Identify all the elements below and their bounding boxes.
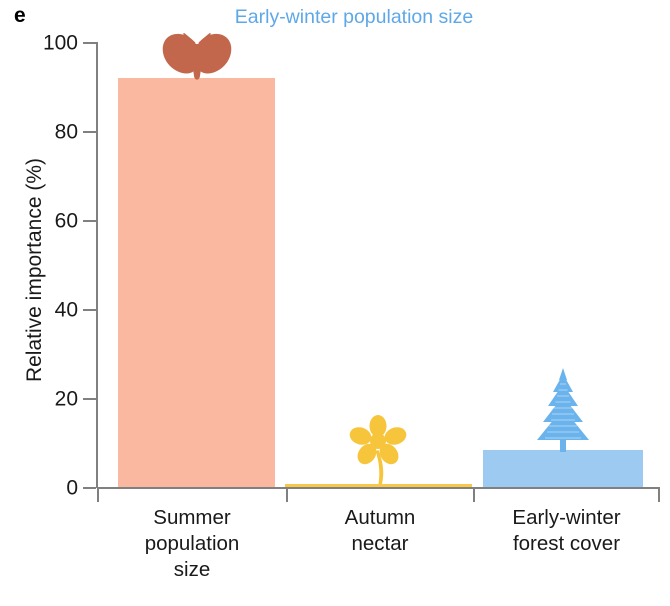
y-tick-60 xyxy=(83,220,96,222)
x-category-line: size xyxy=(97,557,287,583)
x-category-line: Early-winter xyxy=(473,505,660,531)
y-tick-40 xyxy=(83,309,96,311)
x-category-line: population xyxy=(97,531,287,557)
bar-summer-population-size[interactable] xyxy=(118,78,275,487)
y-tick-20 xyxy=(83,398,96,400)
figure-panel-e: e Early-winter population size 100 80 60… xyxy=(0,0,670,606)
chart-title: Early-winter population size xyxy=(0,6,670,29)
x-tick-sep-2 xyxy=(473,489,475,502)
bar-early-winter-forest-cover[interactable] xyxy=(483,450,643,487)
x-tick-right-end xyxy=(658,489,660,502)
y-tick-0 xyxy=(83,487,96,489)
x-category-label-autumn-nectar: Autumn nectar xyxy=(287,505,473,557)
y-tick-80 xyxy=(83,131,96,133)
x-category-line: forest cover xyxy=(473,531,660,557)
butterfly-icon xyxy=(161,32,233,84)
pine-tree-icon xyxy=(532,368,594,452)
x-category-label-early-winter-forest-cover: Early-winter forest cover xyxy=(473,505,660,557)
x-category-label-summer-population-size: Summer population size xyxy=(97,505,287,584)
x-tick-sep-1 xyxy=(286,489,288,502)
x-category-line: Summer xyxy=(97,505,287,531)
x-axis-line xyxy=(97,487,660,489)
y-tick-100 xyxy=(83,42,96,44)
x-category-line: nectar xyxy=(287,531,473,557)
flower-icon xyxy=(349,414,407,486)
y-axis-title: Relative importance (%) xyxy=(23,20,47,520)
x-category-line: Autumn xyxy=(287,505,473,531)
x-tick-left-end xyxy=(97,489,99,502)
plot-area xyxy=(97,42,660,487)
